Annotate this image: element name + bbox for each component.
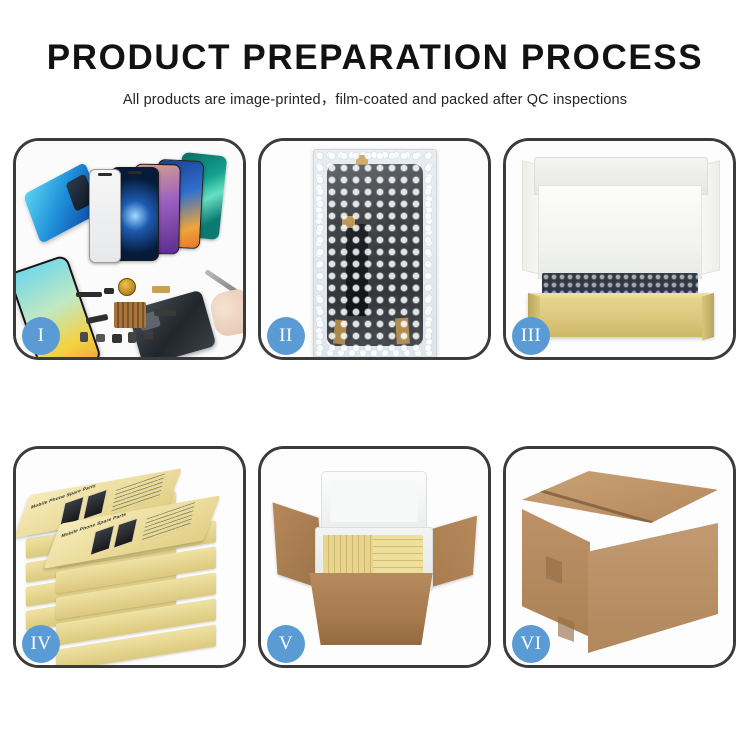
sealed-carton-icon [522,471,718,647]
box-print-phone-icon [113,517,138,548]
speaker-module-icon [118,278,136,296]
page-title: PRODUCT PREPARATION PROCESS [0,40,750,77]
page-header: PRODUCT PREPARATION PROCESS All products… [0,0,750,109]
box-print-phone-icon [90,525,115,556]
step-badge-1: I [22,317,60,355]
small-part-icon [128,332,136,343]
phone-front-glass-icon [89,169,121,263]
process-step-6[interactable]: VI [503,446,736,668]
screen-assembly-icon [327,164,423,346]
step-badge-6: VI [512,625,550,663]
step-badge-5: V [267,625,305,663]
flex-cable-icon [346,224,368,316]
step-badge-2: II [267,317,305,355]
process-steps-grid: I II [13,138,737,668]
box-corner-icon [702,293,714,341]
process-step-3[interactable]: III [503,138,736,360]
hand-icon [208,288,243,339]
box-print-spec-lines [141,502,195,543]
foam-lid-icon [321,471,427,531]
page-subtitle: All products are image-printed，film-coat… [0,88,750,109]
process-step-1[interactable]: I [13,138,246,360]
small-part-icon [144,330,153,339]
flex-cable-icon [76,292,102,297]
tape-icon [395,318,410,345]
small-part-icon [80,332,88,342]
step-badge-3: III [512,317,550,355]
tape-icon [342,216,355,228]
process-step-4[interactable]: Mobile Phone Spare Parts Mobile Phone Sp… [13,446,246,668]
bubble-wrap-icon [313,149,437,357]
process-step-2[interactable]: II [258,138,491,360]
gold-connector-icon [152,286,170,293]
tape-icon [333,320,347,345]
step-badge-4: IV [22,625,60,663]
small-part-icon [104,288,114,294]
carton-right-face [588,523,718,653]
phone-notch-icon [98,173,112,176]
flex-cable-icon [154,310,176,316]
flex-cable-icon [86,314,109,324]
yellow-box-tray-icon [528,293,714,337]
phone-notch-icon [128,171,142,174]
process-step-5[interactable]: V [258,446,491,668]
screw-tray-icon [114,302,146,328]
spare-parts-group [74,276,194,354]
tape-icon [356,155,368,165]
small-part-icon [96,334,105,342]
small-part-icon [112,334,122,343]
carton-front-icon [301,573,441,645]
carton-flap-right-icon [427,516,477,589]
foam-sheet-icon [538,185,702,279]
